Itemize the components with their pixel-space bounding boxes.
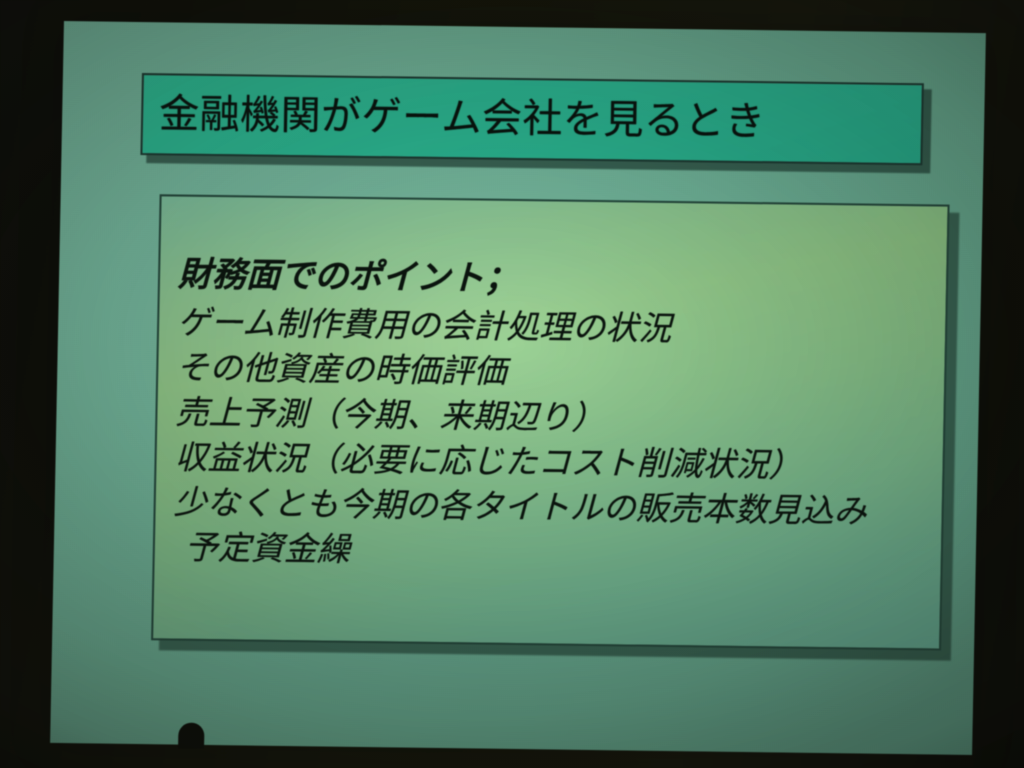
- slide-title-text: 金融機関がゲーム会社を見るとき: [159, 94, 766, 142]
- screenshot-stage: 金融機関がゲーム会社を見るとき 財務面でのポイント； ゲーム制作費用の会計処理の…: [0, 0, 1024, 768]
- screen-edge-obstruction: [178, 723, 204, 749]
- slide-content-box: 財務面でのポイント； ゲーム制作費用の会計処理の状況 その他資産の時価評価 売上…: [151, 194, 949, 650]
- slide-body-list: 財務面でのポイント； ゲーム制作費用の会計処理の状況 その他資産の時価評価 売上…: [172, 253, 936, 580]
- slide-title-bar: 金融機関がゲーム会社を見るとき: [140, 73, 924, 165]
- slide-background: 金融機関がゲーム会社を見るとき 財務面でのポイント； ゲーム制作費用の会計処理の…: [50, 21, 986, 755]
- list-item: 財務面でのポイント；: [178, 253, 937, 308]
- projected-slide: 金融機関がゲーム会社を見るとき 財務面でのポイント； ゲーム制作費用の会計処理の…: [50, 21, 986, 755]
